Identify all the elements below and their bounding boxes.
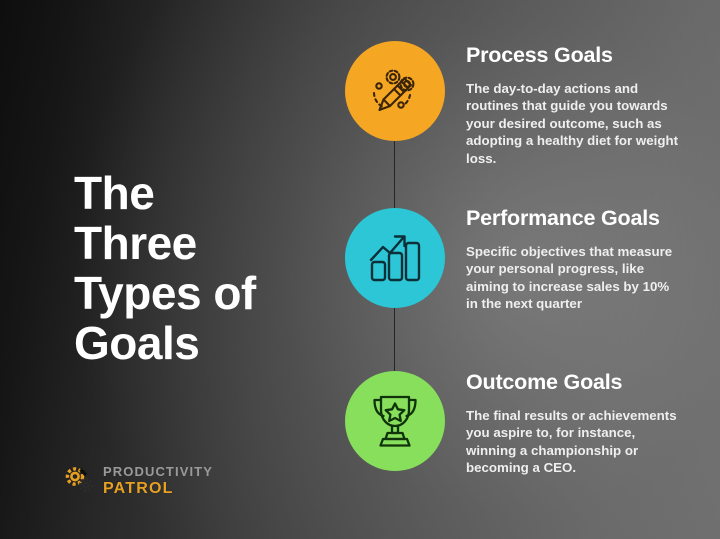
page-title: The Three Types of Goals [74, 168, 324, 368]
infographic-canvas: The Three Types of Goals PRODUCTIVITY PA… [0, 0, 720, 539]
gears-logo-icon [62, 464, 96, 496]
brand-logo[interactable]: PRODUCTIVITY PATROL [62, 464, 213, 496]
goal-heading-performance: Performance Goals [466, 206, 681, 230]
timeline-node-outcome-goals[interactable] [345, 371, 445, 471]
goal-description-outcome: The final results or achievements you as… [466, 407, 681, 477]
goal-heading-process: Process Goals [466, 43, 681, 67]
timeline-node-performance-goals[interactable] [345, 208, 445, 308]
pencil-gears-icon [366, 62, 424, 120]
goal-description-process: The day-to-day actions and routines that… [466, 80, 681, 167]
page-title-line-1: The [74, 168, 324, 218]
goal-item-outcome: Outcome Goals The final results or achie… [466, 370, 681, 477]
goal-description-performance: Specific objectives that measure your pe… [466, 243, 681, 313]
goal-heading-outcome: Outcome Goals [466, 370, 681, 394]
page-title-line-3: Types of [74, 268, 324, 318]
brand-logo-top-word: PRODUCTIVITY [103, 465, 213, 479]
brand-logo-bottom-word: PATROL [103, 480, 213, 497]
page-title-line-2: Three [74, 218, 324, 268]
bar-chart-growth-arrow-icon [366, 230, 424, 286]
brand-logo-wordmark: PRODUCTIVITY PATROL [103, 465, 213, 497]
page-title-line-4: Goals [74, 318, 324, 368]
timeline-node-process-goals[interactable] [345, 41, 445, 141]
trophy-star-icon [366, 391, 424, 451]
goal-item-process: Process Goals The day-to-day actions and… [466, 43, 681, 167]
goal-item-performance: Performance Goals Specific objectives th… [466, 206, 681, 313]
